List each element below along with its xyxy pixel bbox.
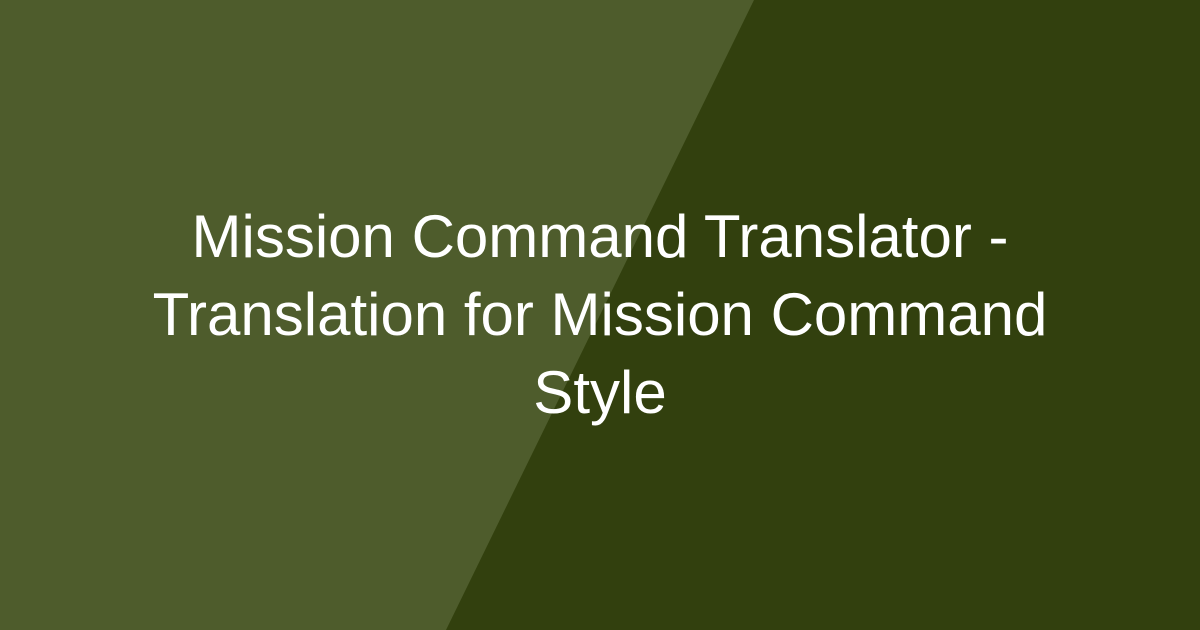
- social-preview-card: Mission Command Translator - Translation…: [0, 0, 1200, 630]
- title-block: Mission Command Translator - Translation…: [0, 0, 1200, 630]
- page-title: Mission Command Translator - Translation…: [100, 198, 1100, 432]
